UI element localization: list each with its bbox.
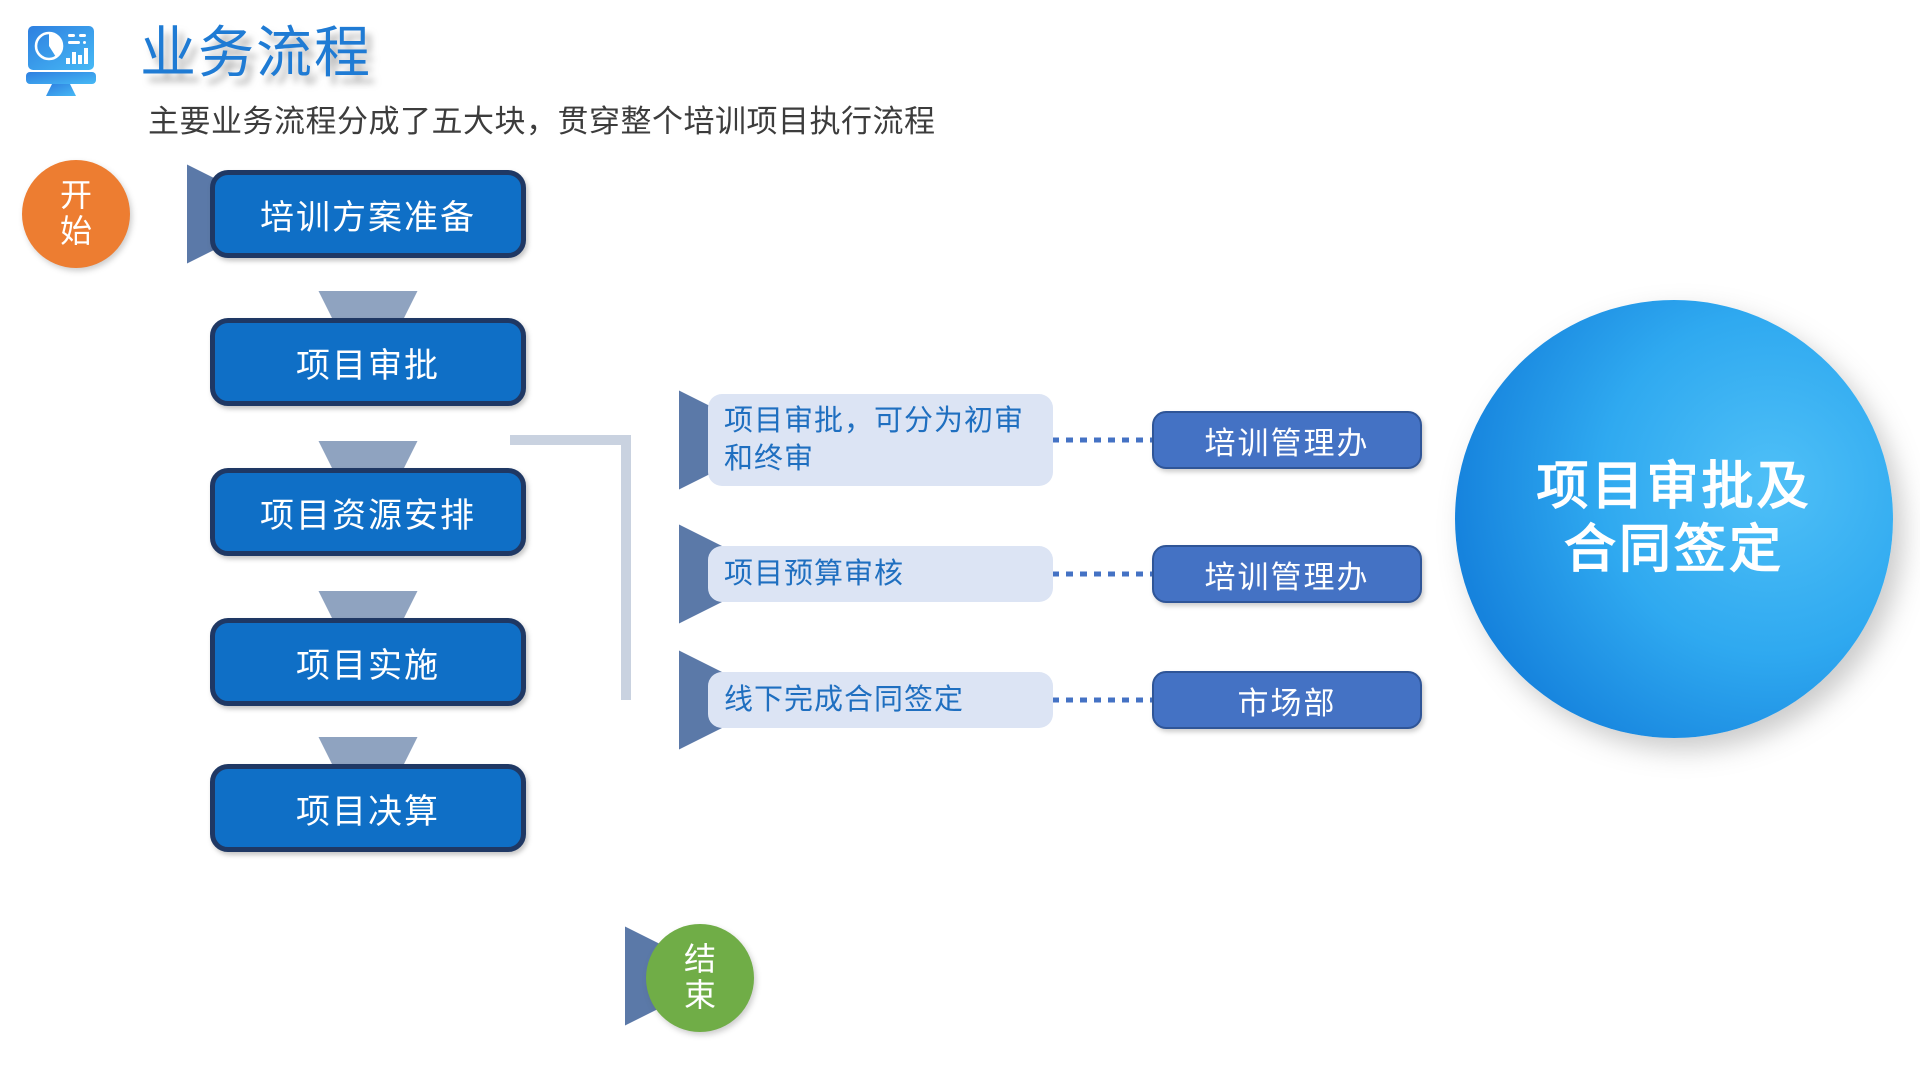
- page-title: 业务流程: [140, 24, 372, 83]
- flow-step-training-plan[interactable]: 培训方案准备: [210, 170, 526, 258]
- dept-box-training-office-1[interactable]: 培训管理办: [1152, 411, 1422, 469]
- end-label-line1: 结: [684, 942, 716, 978]
- start-terminator[interactable]: 开 始: [22, 160, 130, 268]
- flow-step-project-execute[interactable]: 项目实施: [210, 618, 526, 706]
- dept-box-market[interactable]: 市场部: [1152, 671, 1422, 729]
- page-subtitle: 主要业务流程分成了五大块，贯穿整个培训项目执行流程: [148, 96, 936, 141]
- flow-step-project-approval[interactable]: 项目审批: [210, 318, 526, 406]
- end-terminator[interactable]: 结 束: [646, 924, 754, 1032]
- end-label-line2: 束: [684, 978, 716, 1014]
- phase-title-line1: 项目审批及: [1536, 456, 1811, 519]
- phase-title-line2: 合同签定: [1564, 519, 1784, 582]
- connector-branch-trunk: [510, 440, 626, 700]
- phase-circle[interactable]: 项目审批及 合同签定: [1455, 300, 1893, 738]
- detail-box-budget[interactable]: 项目预算审核: [708, 546, 1053, 602]
- start-label-line2: 始: [60, 214, 92, 250]
- detail-box-contract[interactable]: 线下完成合同签定: [708, 672, 1053, 728]
- detail-box-approval[interactable]: 项目审批，可分为初审和终审: [708, 394, 1053, 486]
- flow-step-project-settle[interactable]: 项目决算: [210, 764, 526, 852]
- flow-step-resource-arrange[interactable]: 项目资源安排: [210, 468, 526, 556]
- start-label-line1: 开: [60, 178, 92, 214]
- dashboard-monitor-icon: [18, 16, 104, 102]
- dept-box-training-office-2[interactable]: 培训管理办: [1152, 545, 1422, 603]
